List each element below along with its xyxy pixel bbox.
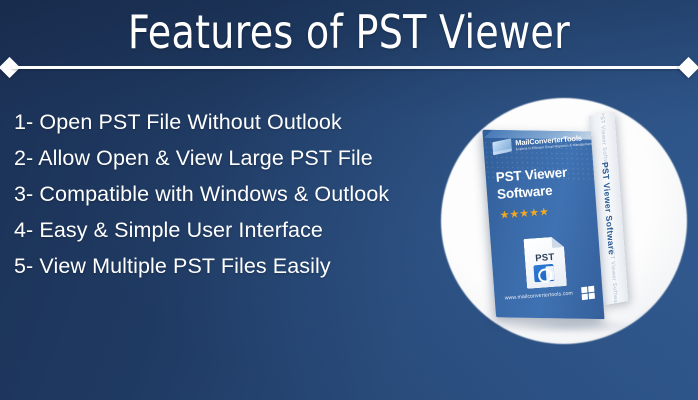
product-title: PST Viewer Software xyxy=(495,164,569,203)
spine-title: PST Viewer Software xyxy=(600,161,617,255)
windows-pane-4 xyxy=(589,293,595,300)
title-divider xyxy=(0,60,698,76)
brand-logo-icon xyxy=(492,138,512,155)
diamond-right-icon xyxy=(678,57,698,78)
list-item: 2- Allow Open & View Large PST File xyxy=(14,140,454,176)
pst-file-icon: PST xyxy=(523,236,567,289)
product-box: PST Viewer Software PST Viewer Software … xyxy=(489,118,639,318)
product-box-inner: PST Viewer Software PST Viewer Software … xyxy=(482,113,646,323)
box-front-content: MailConverterTools Experts In Efficient … xyxy=(482,130,603,317)
list-item: 3- Compatible with Windows & Outlook xyxy=(14,176,454,212)
windows-pane-2 xyxy=(588,286,594,293)
list-item: 4- Easy & Simple User Interface xyxy=(14,212,454,248)
windows-pane-3 xyxy=(582,294,588,301)
list-item: 1- Open PST File Without Outlook xyxy=(14,104,454,140)
page-title: Features of PST Viewer xyxy=(28,4,670,60)
brand-logo: MailConverterTools Experts In Efficient … xyxy=(492,134,592,154)
website-url: www.mailconvertertools.com xyxy=(505,291,574,302)
outlook-envelope-flap xyxy=(545,265,554,280)
file-fold-corner-icon xyxy=(551,236,564,248)
outlook-icon xyxy=(533,264,554,282)
spine-ghost-text-bottom: PST Viewer Software xyxy=(608,247,618,305)
list-item: 5- View Multiple PST Files Easily xyxy=(14,248,454,284)
slide-canvas: Features of PST Viewer 1- Open PST File … xyxy=(0,0,698,400)
windows-logo-icon xyxy=(581,286,595,301)
product-box-front: MailConverterTools Experts In Efficient … xyxy=(482,130,604,319)
feature-list: 1- Open PST File Without Outlook 2- Allo… xyxy=(14,104,454,284)
brand-logo-text: MailConverterTools Experts In Efficient … xyxy=(515,134,592,152)
rating-stars: ★★★★★ xyxy=(499,207,549,222)
divider-line xyxy=(12,66,686,69)
windows-pane-1 xyxy=(581,287,587,294)
